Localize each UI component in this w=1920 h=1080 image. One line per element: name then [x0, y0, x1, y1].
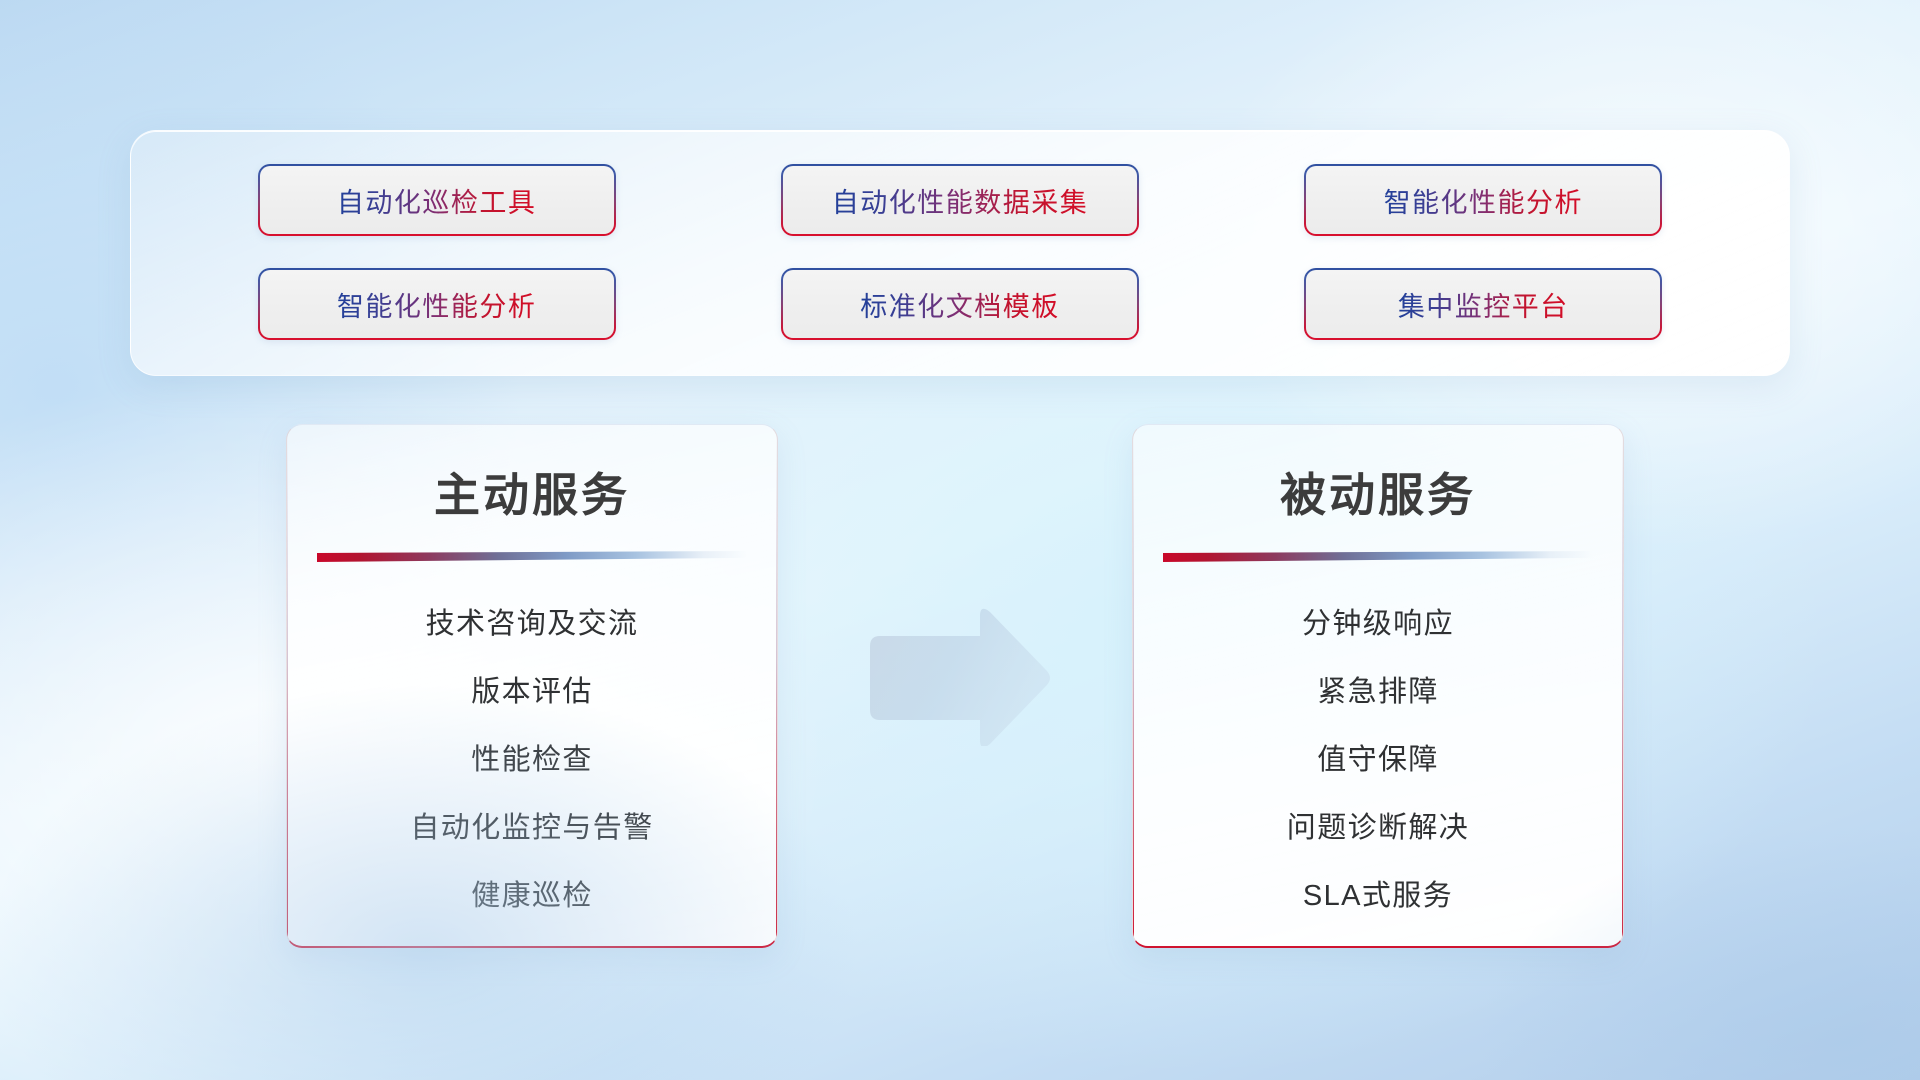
service-item: 紧急排障	[1317, 668, 1439, 710]
service-item-list: 技术咨询及交流 版本评估 性能检查 自动化监控与告警 健康巡检	[287, 600, 777, 914]
capability-chip-label: 集中监控平台	[1398, 285, 1569, 324]
capability-chip-inner: 自动化性能数据采集	[783, 166, 1137, 234]
service-item: 分钟级响应	[1302, 600, 1454, 642]
capability-chip[interactable]: 智能化性能分析	[1304, 164, 1662, 236]
service-card-title: 被动服务	[1133, 459, 1623, 525]
capability-chip-inner: 自动化巡检工具	[260, 166, 614, 234]
service-card-title: 主动服务	[287, 459, 777, 525]
right-arrow-icon	[862, 606, 1052, 746]
capability-chip[interactable]: 智能化性能分析	[258, 268, 616, 340]
capability-chip[interactable]: 自动化性能数据采集	[781, 164, 1139, 236]
capability-chip-inner: 智能化性能分析	[1306, 166, 1660, 234]
capability-chip-inner: 集中监控平台	[1306, 270, 1660, 338]
title-divider	[317, 551, 747, 562]
capability-chip-inner: 智能化性能分析	[260, 270, 614, 338]
service-item: 值守保障	[1317, 736, 1439, 778]
service-item-list: 分钟级响应 紧急排障 值守保障 问题诊断解决 SLA式服务	[1133, 600, 1623, 914]
service-item: 问题诊断解决	[1287, 804, 1469, 846]
capability-chip-label: 智能化性能分析	[337, 285, 537, 324]
capability-chip-inner: 标准化文档模板	[783, 270, 1137, 338]
infographic-canvas: 自动化巡检工具 自动化性能数据采集 智能化性能分析 智能化性能分析	[0, 0, 1920, 1080]
capability-chip[interactable]: 自动化巡检工具	[258, 164, 616, 236]
capability-chip-label: 标准化文档模板	[860, 285, 1060, 324]
service-item: 健康巡检	[471, 872, 593, 914]
service-item: 技术咨询及交流	[426, 600, 639, 642]
capability-chip[interactable]: 标准化文档模板	[781, 268, 1139, 340]
capability-chip-label: 智能化性能分析	[1384, 181, 1584, 220]
service-item: SLA式服务	[1303, 872, 1453, 914]
service-item: 性能检查	[471, 736, 593, 778]
title-divider-bar	[317, 551, 747, 562]
title-divider-bar	[1163, 551, 1593, 562]
service-card-reactive: 被动服务 分钟级响应 紧急排障 值守保障 问题诊断解决 SLA式服务	[1132, 424, 1624, 948]
service-card-proactive: 主动服务 技术咨询及交流 版本评估 性能检查 自动化监控与告警 健康巡检	[286, 424, 778, 948]
capability-panel: 自动化巡检工具 自动化性能数据采集 智能化性能分析 智能化性能分析	[130, 130, 1790, 376]
capability-chip-grid: 自动化巡检工具 自动化性能数据采集 智能化性能分析 智能化性能分析	[131, 131, 1789, 375]
capability-chip[interactable]: 集中监控平台	[1304, 268, 1662, 340]
title-divider	[1163, 551, 1593, 562]
capability-chip-label: 自动化性能数据采集	[832, 181, 1089, 220]
service-item: 版本评估	[471, 668, 593, 710]
capability-chip-label: 自动化巡检工具	[337, 181, 537, 220]
service-item: 自动化监控与告警	[410, 804, 653, 846]
